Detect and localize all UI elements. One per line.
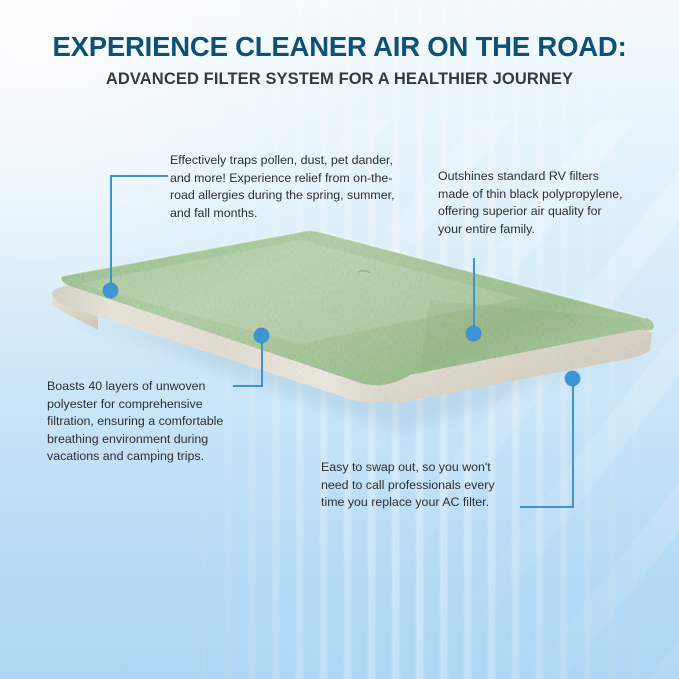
callout-top-left: Effectively traps pollen, dust, pet dand… xyxy=(170,152,408,222)
infographic-canvas: EXPERIENCE CLEANER AIR ON THE ROAD: ADVA… xyxy=(0,0,679,679)
marker-dot-top-right[interactable] xyxy=(466,326,481,341)
leader-segment-vertical xyxy=(261,340,263,386)
page-title: EXPERIENCE CLEANER AIR ON THE ROAD: xyxy=(0,0,679,62)
leader-segment-horizontal xyxy=(110,175,168,177)
filter-pad-illustration xyxy=(0,0,679,679)
callout-bottom-left: Boasts 40 layers of unwoven polyester fo… xyxy=(47,378,247,466)
callout-bottom-right-text: Easy to swap out, so you won't need to c… xyxy=(321,459,521,512)
leader-segment-vertical xyxy=(110,175,112,288)
filter-edge-front-right xyxy=(382,329,652,402)
filter-top-surface xyxy=(61,231,654,386)
header: EXPERIENCE CLEANER AIR ON THE ROAD: ADVA… xyxy=(0,0,679,88)
filter-surface-sheen xyxy=(78,240,520,344)
page-subtitle: ADVANCED FILTER SYSTEM FOR A HEALTHIER J… xyxy=(0,62,679,88)
callout-bottom-right: Easy to swap out, so you won't need to c… xyxy=(321,459,521,512)
callout-top-right-text: Outshines standard RV filters made of th… xyxy=(438,168,628,238)
leader-segment-vertical xyxy=(572,383,574,507)
marker-dot-top-left[interactable] xyxy=(103,283,118,298)
background-vertical-stripes xyxy=(0,0,679,679)
filter-back-edge-highlight xyxy=(62,231,646,319)
filter-surface-shade xyxy=(420,300,648,372)
filter-fiber-speck xyxy=(358,271,370,273)
callout-top-right: Outshines standard RV filters made of th… xyxy=(438,168,628,238)
callout-top-left-text: Effectively traps pollen, dust, pet dand… xyxy=(170,152,408,222)
leader-segment-vertical xyxy=(473,258,475,331)
leader-segment-horizontal xyxy=(520,506,574,508)
filter-edge-left xyxy=(52,292,98,330)
marker-dot-center[interactable] xyxy=(254,328,269,343)
callout-bottom-left-text: Boasts 40 layers of unwoven polyester fo… xyxy=(47,378,247,466)
marker-dot-bottom-right[interactable] xyxy=(565,371,580,386)
product-image xyxy=(0,0,679,679)
